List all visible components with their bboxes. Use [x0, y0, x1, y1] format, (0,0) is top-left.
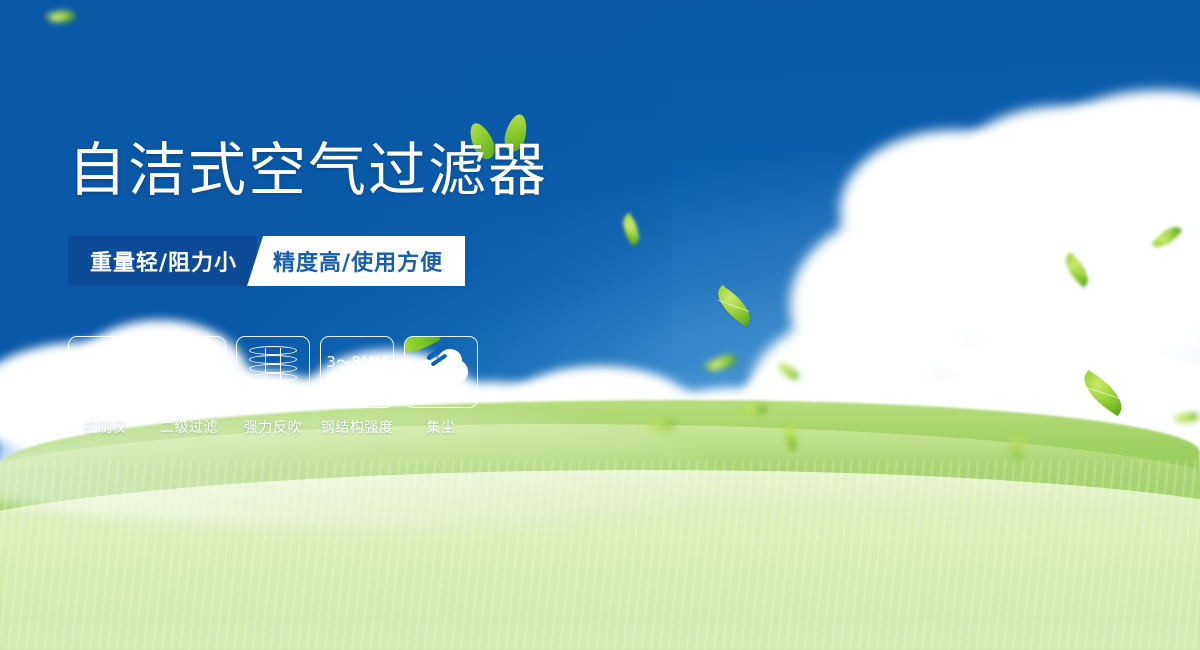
- feature-item-two-stage-filter[interactable]: 0.6～0.8 MPA 二级过滤: [152, 336, 226, 437]
- feature-icon-box: 3～8MM 钢板: [320, 336, 394, 408]
- gauge-label-min: NO: [76, 368, 86, 375]
- feature-item-steel-strength[interactable]: 3～8MM 钢板 钢结构强度: [320, 336, 394, 437]
- feature-icon-box: NO OFF: [68, 336, 142, 408]
- pressure-text-icon-line2: MPA: [173, 372, 205, 389]
- feature-icon-box: Air: [404, 336, 478, 408]
- gauge-icon: NO OFF: [77, 346, 133, 398]
- page-title: 自洁式空气过滤器: [68, 140, 548, 201]
- filter-stack-icon: [249, 346, 297, 398]
- feature-icon-box: [236, 336, 310, 408]
- gauge-label-max: OFF: [121, 387, 134, 394]
- tagline-right: 精度高/使用方便: [247, 236, 465, 286]
- tagline-bar: 重量轻/阻力小 精度高/使用方便: [68, 236, 465, 286]
- product-banner: 自洁式空气过滤器 重量轻/阻力小 精度高/使用方便: [0, 0, 1200, 650]
- steel-text-icon-line2: 钢板: [341, 371, 374, 390]
- feature-label: 集尘: [426, 417, 455, 437]
- cloud-air-icon: [414, 347, 468, 383]
- steel-text-icon-line1: 3～8MM: [326, 354, 387, 371]
- feature-label: 控制仪: [83, 417, 127, 437]
- feature-item-strong-backflush[interactable]: 强力反吹: [236, 336, 310, 437]
- feature-item-controller[interactable]: NO OFF 控制仪: [68, 336, 142, 437]
- gauge-needle: [101, 355, 110, 389]
- feature-icon-box: 0.6～0.8 MPA: [152, 336, 226, 408]
- feature-label: 钢结构强度: [321, 417, 394, 437]
- feature-label: 强力反吹: [244, 417, 302, 437]
- feature-label: 二级过滤: [160, 417, 218, 437]
- feature-item-dust-collection[interactable]: Air 集尘: [404, 336, 478, 437]
- tagline-left: 重量轻/阻力小: [68, 236, 257, 286]
- feature-list: NO OFF 控制仪 0.6～0.8 MPA 二级过滤: [68, 336, 478, 437]
- grass-texture-sheen: [0, 460, 1200, 650]
- pressure-text-icon-line1: 0.6～0.8: [157, 355, 222, 372]
- air-label: Air: [433, 384, 449, 397]
